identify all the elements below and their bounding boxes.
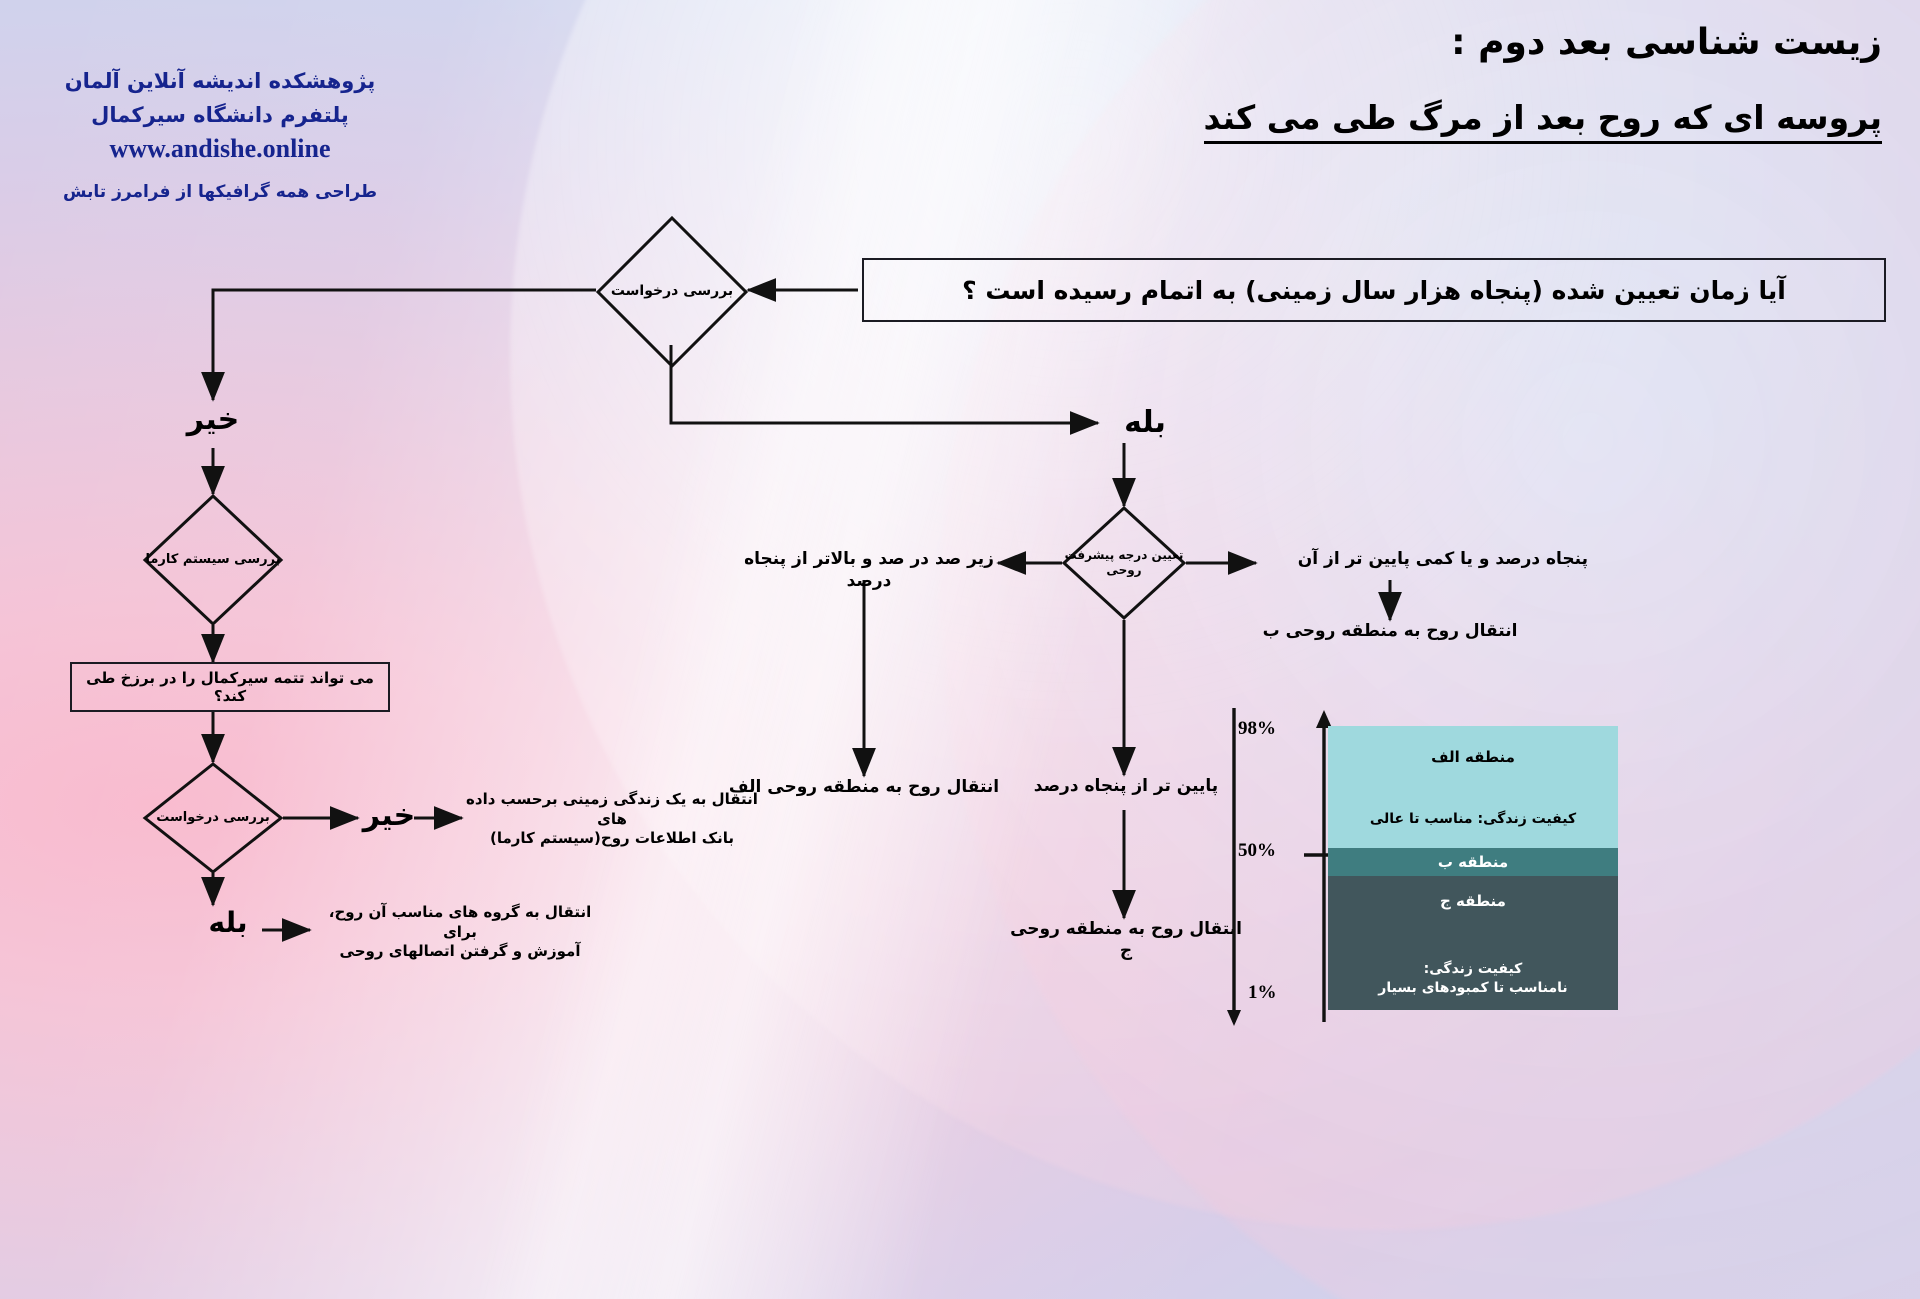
branch-down-result: انتقال روح به منطقه روحی ج: [1010, 918, 1242, 962]
decision-karma-system: بررسی سیستم کارما: [143, 494, 283, 626]
zone-alef-quality: کیفیت زندگی: مناسب تا عالی: [1328, 810, 1618, 829]
zone-jim-quality: کیفیت زندگی: نامناسب تا کمبودهای بسیار: [1328, 960, 1618, 998]
label-yes-top: بله: [1100, 403, 1190, 442]
page-subtitle: پروسه ای که روح بعد از مرگ طی می کند: [1204, 98, 1883, 144]
branch-left-result: انتقال روح به منطقه روحی الف: [728, 776, 1000, 798]
branch-right-result: انتقال روح به منطقه روحی ب: [1240, 620, 1540, 642]
diagram-canvas: پژوهشکده اندیشه آنلاین آلمان پلتفرم دانش…: [0, 0, 1920, 1299]
zone-jim: منطقه ج کیفیت زندگی: نامناسب تا کمبودهای…: [1328, 876, 1618, 1010]
chart-tick-bottom: 1%: [1248, 982, 1277, 1004]
branch-down-label: پایین تر از پنجاه درصد: [1020, 775, 1232, 797]
chart-tick-mid: 50%: [1238, 840, 1276, 862]
brand-line-2: پلتفرم دانشگاه سیرکمال: [40, 100, 400, 130]
note-no-bottom: انتقال به یک زندگی زمینی برحسب داده های …: [462, 790, 762, 849]
page-title: زیست شناسی بعد دوم :: [1451, 22, 1882, 63]
label-no-top: خیر: [163, 400, 263, 439]
label-yes-bottom: بله: [196, 905, 260, 941]
spiritual-zones-chart: 98% 50% 1% منطقه الف کیفیت زندگی: مناسب …: [1210, 700, 1910, 1030]
start-question-text: آیا زمان تعیین شده (پنجاه هزار سال زمینی…: [962, 276, 1786, 305]
branch-left-label: زیر صد در صد و بالاتر از پنجاه درصد: [738, 548, 1000, 592]
brand-credit: طراحی همه گرافیکها از فرامرز تابش: [40, 182, 400, 202]
chart-range-arrow: [1220, 700, 1310, 1030]
zone-beh: منطقه ب: [1328, 848, 1618, 876]
start-question-box: آیا زمان تعیین شده (پنجاه هزار سال زمینی…: [862, 258, 1886, 322]
note-yes-bottom: انتقال به گروه های مناسب آن روح، برای آم…: [310, 903, 610, 962]
decision-review-request-2: بررسی درخواست: [143, 762, 283, 874]
brand-website-link[interactable]: www.andishe.online: [40, 134, 400, 164]
zone-alef: منطقه الف کیفیت زندگی: مناسب تا عالی: [1328, 726, 1618, 848]
barzakh-question-text: می تواند تتمه سیرکمال را در برزخ طی کند؟: [80, 669, 380, 705]
zone-beh-title: منطقه ب: [1328, 853, 1618, 871]
branch-right-label: پنجاه درصد و یا کمی پایین تر از آن: [1258, 548, 1588, 570]
zone-alef-title: منطقه الف: [1328, 748, 1618, 766]
barzakh-question-box: می تواند تتمه سیرکمال را در برزخ طی کند؟: [70, 662, 390, 712]
decision-review-request-1: بررسی درخواست: [596, 216, 748, 368]
brand-line-1: پژوهشکده اندیشه آنلاین آلمان: [40, 66, 400, 96]
zone-jim-title: منطقه ج: [1328, 892, 1618, 910]
label-no-bottom: خیر: [360, 796, 418, 835]
decision-spiritual-progress: تعیین درجه پیشرفت روحی: [1062, 506, 1186, 620]
chart-tick-top: 98%: [1238, 718, 1276, 740]
